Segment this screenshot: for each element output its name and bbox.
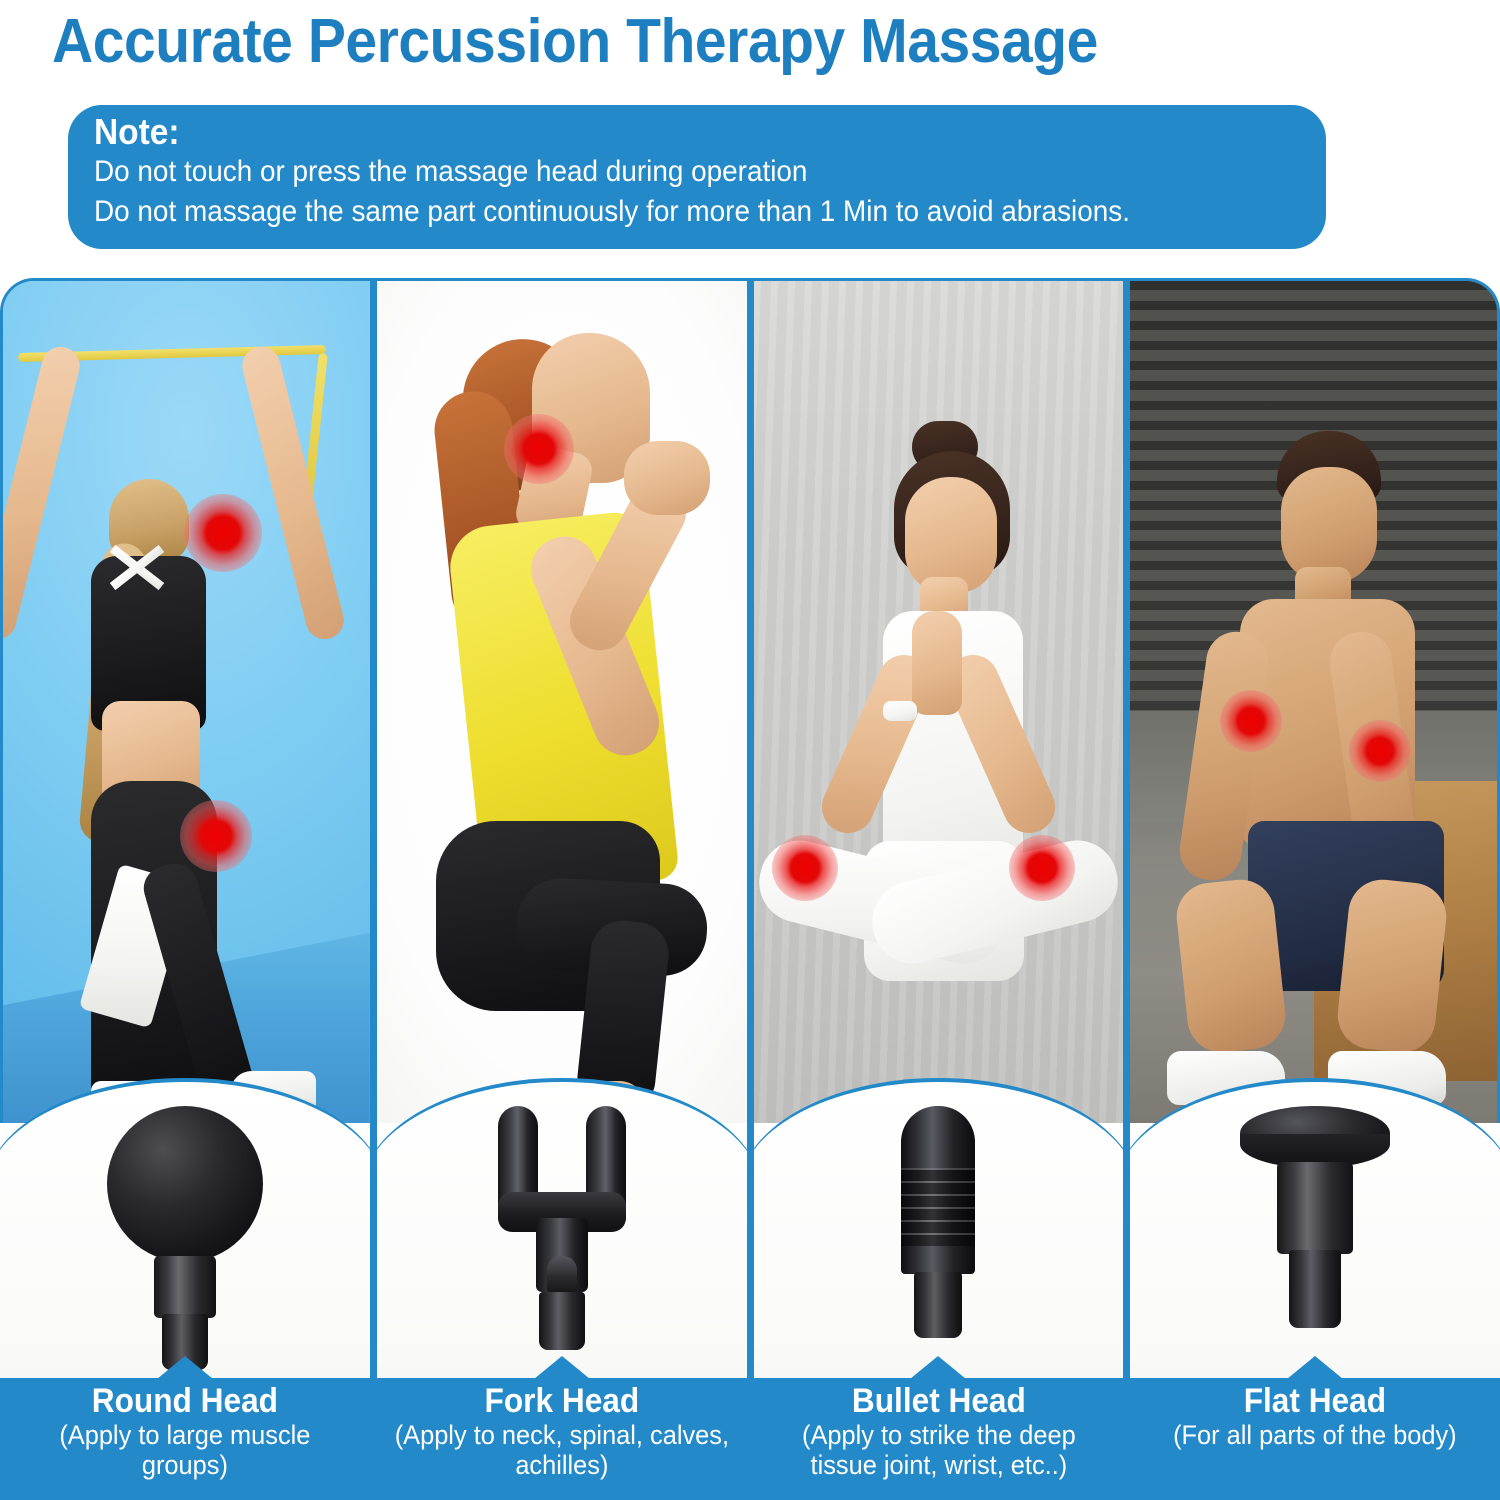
panel-flat-head[interactable]: Flat Head (For all parts of the body) (1123, 278, 1500, 1500)
wristband (883, 701, 917, 721)
bullet-head-icon (878, 1106, 998, 1358)
note-heading: Note: (94, 111, 1216, 152)
label-bar-fork-head: Fork Head (Apply to neck, spinal, calves… (377, 1378, 747, 1500)
scene-woman-resistance-band-stretch (0, 278, 370, 1123)
hotspot-shoulder (184, 494, 262, 572)
panel-fork-head[interactable]: Fork Head (Apply to neck, spinal, calves… (370, 278, 747, 1500)
product-stage-round-head (0, 1078, 370, 1400)
scene-woman-seated-straddle-stretch (754, 278, 1124, 1123)
attachment-usage: (For all parts of the body) (1141, 1420, 1489, 1450)
hotspot-inner-thigh-right (1009, 835, 1075, 901)
attachment-name: Fork Head (390, 1382, 734, 1420)
round-head-icon (105, 1106, 265, 1356)
attachment-name: Bullet Head (766, 1382, 1110, 1420)
label-bar-round-head: Round Head (Apply to large muscle groups… (0, 1378, 370, 1500)
flat-head-shaft-lower (1289, 1250, 1341, 1328)
scene-man-seated-gym-box (1130, 278, 1500, 1123)
fork-center-cone (547, 1256, 577, 1292)
note-line-2: Do not massage the same part continuousl… (94, 192, 1216, 232)
attachment-panel-grid: Round Head (Apply to large muscle groups… (0, 278, 1500, 1500)
scene-woman-squat-yellow-tank (377, 278, 747, 1123)
label-bar-flat-head: Flat Head (For all parts of the body) (1130, 1378, 1500, 1500)
hotspot-neck (504, 414, 574, 484)
attachment-usage: (Apply to strike the deep tissue joint, … (765, 1420, 1113, 1480)
attachment-usage: (Apply to large muscle groups) (11, 1420, 359, 1480)
round-head-shaft-upper (154, 1256, 216, 1318)
panel-bullet-head[interactable]: Bullet Head (Apply to strike the deep ti… (747, 278, 1124, 1500)
header: Accurate Percussion Therapy Massage Note… (0, 0, 1500, 272)
product-stage-fork-head (377, 1078, 747, 1400)
label-notch-icon (910, 1356, 966, 1379)
attachment-name: Flat Head (1143, 1382, 1487, 1420)
hands-clasped (624, 441, 710, 515)
label-notch-icon (1287, 1356, 1343, 1379)
face (1281, 467, 1377, 583)
hands-prayer (912, 611, 962, 715)
hotspot-inner-thigh-left (772, 835, 838, 901)
flat-head-shaft-upper (1277, 1162, 1353, 1254)
page-title: Accurate Percussion Therapy Massage (52, 8, 1098, 76)
note-box: Note: Do not touch or press the massage … (68, 105, 1326, 249)
attachment-name: Round Head (13, 1382, 357, 1420)
fork-head-shaft-lower (539, 1292, 585, 1350)
face (905, 477, 997, 593)
hotspot-glute (180, 800, 252, 872)
hotspot-forearm-right (1349, 720, 1411, 782)
bullet-head-ribs (901, 1168, 975, 1246)
product-stage-flat-head (1130, 1078, 1500, 1400)
panel-round-head[interactable]: Round Head (Apply to large muscle groups… (0, 278, 370, 1500)
label-bar-bullet-head: Bullet Head (Apply to strike the deep ti… (754, 1378, 1124, 1500)
thigh-left (1173, 876, 1288, 1055)
attachment-usage: (Apply to neck, spinal, calves, achilles… (388, 1420, 736, 1480)
round-head-ball (107, 1106, 263, 1262)
note-line-1: Do not touch or press the massage head d… (94, 152, 1216, 192)
bullet-head-shaft-lower (914, 1272, 962, 1338)
label-notch-icon (534, 1356, 590, 1379)
flat-head-icon (1237, 1106, 1393, 1356)
product-stage-bullet-head (754, 1078, 1124, 1400)
label-notch-icon (157, 1356, 213, 1379)
thigh-right (1334, 876, 1449, 1055)
hotspot-elbow-left (1220, 690, 1282, 752)
fork-head-icon (476, 1106, 648, 1356)
